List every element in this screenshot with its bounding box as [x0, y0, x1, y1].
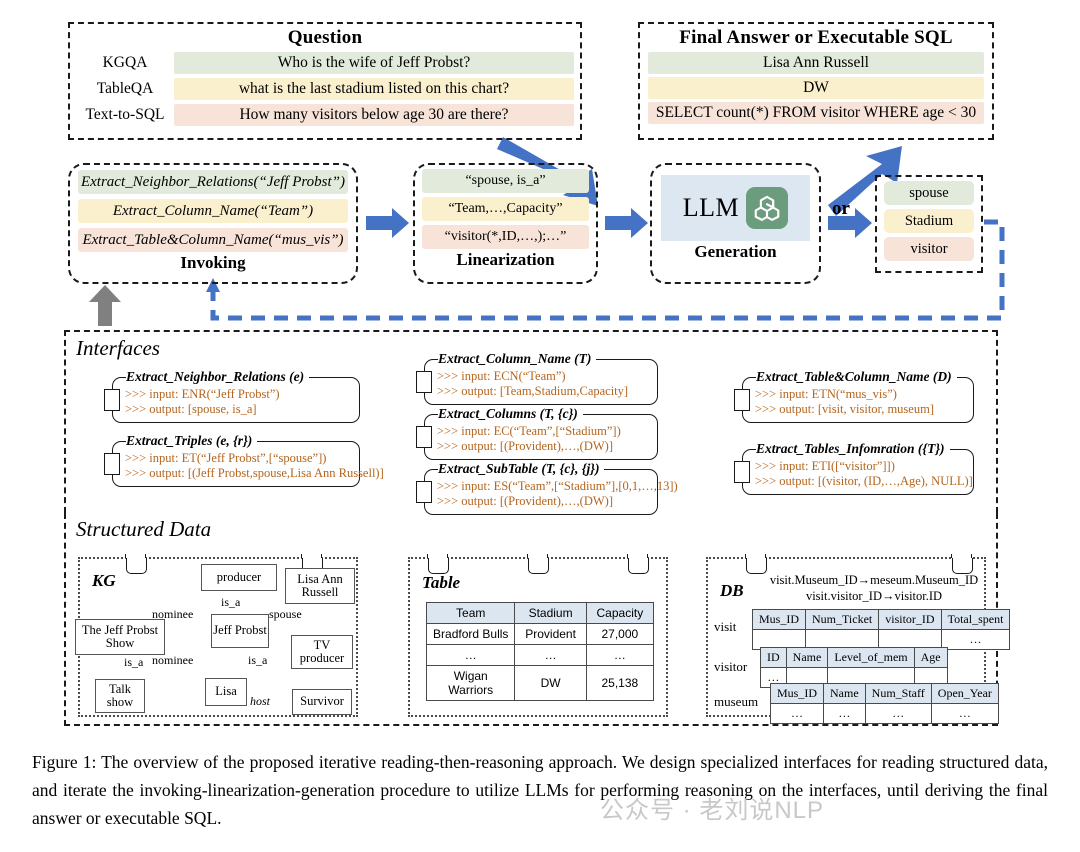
db-col: Mus_ID	[753, 610, 806, 630]
linearization-item-3: “visitor(*,ID,…,);…”	[422, 225, 589, 249]
db-table-museum: Mus_ID Name Num_Staff Open_Year … … … …	[770, 683, 999, 724]
table-cell: 25,138	[586, 666, 653, 701]
table-cell: …	[586, 645, 653, 666]
table-col-team: Team	[427, 603, 515, 624]
db-header-row: Mus_ID Name Num_Staff Open_Year	[771, 684, 999, 704]
generation-caption: Generation	[652, 242, 819, 262]
or-label: or	[832, 198, 850, 220]
answer-value-kgqa: Lisa Ann Russell	[648, 52, 984, 74]
table-cell: DW	[515, 666, 586, 701]
arrow-linearization-to-generation	[605, 208, 648, 238]
question-value-text-to-sql: How many visitors below age 30 are there…	[174, 104, 574, 126]
kg-edge-label-is-a-talkshow: is_a	[124, 655, 143, 670]
interface-name: Extract_Column_Name (T)	[438, 351, 596, 367]
table-row: … … …	[427, 645, 654, 666]
db-relation-2: visit.visitor_ID→visitor.ID	[764, 589, 984, 604]
db-col: Name	[824, 684, 866, 704]
db-col: ID	[761, 648, 787, 668]
interface-input: >>> input: ETN(“mus_vis”)	[755, 387, 964, 402]
interface-output: >>> output: [(Provident),…,(DW)]	[437, 494, 648, 509]
db-table-visitor: ID Name Level_of_mem Age …	[760, 647, 948, 688]
interface-output: >>> output: [(visitor, (ID,…,Age), NULL)…	[755, 474, 964, 489]
linearization-item-1: “spouse, is_a”	[422, 169, 589, 193]
question-row-text-to-sql: Text-to-SQL How many visitors below age …	[76, 103, 574, 127]
db-block: DB visit.Museum_ID→meseum.Museum_ID visi…	[706, 557, 986, 717]
linearization-box: “spouse, is_a” “Team,…,Capacity” “visito…	[413, 163, 598, 284]
component-plug-icon	[416, 481, 432, 503]
kg-node-survivor: Survivor	[292, 689, 352, 715]
kg-node-the-jeff-probst-show: The Jeff Probst Show	[75, 619, 165, 655]
db-table-label-visitor: visitor	[714, 659, 747, 675]
kg-node-producer: producer	[201, 564, 277, 591]
db-col: Num_Ticket	[806, 610, 879, 630]
table-cell: Wigan Warriors	[427, 666, 515, 701]
db-table-visit: Mus_ID Num_Ticket visitor_ID Total_spent…	[752, 609, 1010, 650]
invoking-caption: Invoking	[70, 253, 356, 273]
interface-name: Extract_Columns (T, {c})	[438, 406, 583, 422]
arrow-interfaces-to-invoking	[89, 285, 121, 326]
db-table-label-visit: visit	[714, 619, 736, 635]
db-header-row: Mus_ID Num_Ticket visitor_ID Total_spent	[753, 610, 1010, 630]
table-col-capacity: Capacity	[586, 603, 653, 624]
interface-input: >>> input: ET(“Jeff Probst”,[“spouse”])	[125, 451, 350, 466]
component-plug-icon	[734, 461, 750, 483]
structured-data-title: Structured Data	[76, 517, 996, 542]
db-value: …	[824, 704, 866, 724]
component-plug-icon	[104, 453, 120, 475]
interface-card-extract-tables-information: Extract_Tables_Infomration ({T}) >>> inp…	[742, 440, 974, 495]
question-panel-title: Question	[70, 27, 580, 49]
block-tab-icon	[628, 558, 649, 574]
table-col-stadium: Stadium	[515, 603, 586, 624]
question-row-tableqa: TableQA what is the last stadium listed …	[76, 77, 574, 101]
kg-edge-label-nominee-2: nominee	[152, 653, 193, 668]
block-tab-icon	[952, 558, 973, 574]
interface-output: >>> output: [(Jeff Probst,spouse,Lisa An…	[125, 466, 350, 481]
component-plug-icon	[734, 389, 750, 411]
table-block: Table Team Stadium Capacity Bradford Bul…	[408, 557, 668, 717]
interface-input: >>> input: ETI([“visitor”]])	[755, 459, 964, 474]
table-title: Table	[422, 573, 460, 593]
db-relation-1: visit.Museum_ID→meseum.Museum_ID	[764, 573, 984, 588]
kg-node-talk-show: Talk show	[95, 679, 145, 713]
answer-panel-title: Final Answer or Executable SQL	[640, 27, 992, 49]
component-plug-icon	[416, 426, 432, 448]
answer-value-tableqa: DW	[648, 77, 984, 99]
interface-input: >>> input: EC(“Team”,[“Stadium”])	[437, 424, 648, 439]
db-title: DB	[720, 581, 744, 601]
question-label-text-to-sql: Text-to-SQL	[76, 106, 174, 124]
output-box: spouse Stadium visitor	[875, 175, 983, 273]
openai-logo-icon	[746, 187, 788, 229]
db-header-row: ID Name Level_of_mem Age	[761, 648, 948, 668]
question-label-tableqa: TableQA	[76, 80, 174, 98]
interface-card-extract-subtable: Extract_SubTable (T, {c}, {j}) >>> input…	[424, 460, 658, 515]
output-item-3: visitor	[884, 237, 974, 261]
db-value: …	[931, 704, 998, 724]
kg-edge-label-is-a-tvproducer: is_a	[248, 653, 267, 668]
db-value: …	[771, 704, 824, 724]
linearization-caption: Linearization	[415, 250, 596, 270]
block-tab-icon	[746, 558, 767, 574]
db-col: visitor_ID	[879, 610, 941, 630]
answer-panel: Final Answer or Executable SQL Lisa Ann …	[638, 22, 994, 140]
db-table-label-museum: museum	[714, 694, 758, 710]
interface-input: >>> input: ENR(“Jeff Probst”)	[125, 387, 350, 402]
interface-name: Extract_Tables_Infomration ({T})	[756, 441, 950, 457]
interface-card-extract-neighbor-relations: Extract_Neighbor_Relations (e) >>> input…	[112, 368, 360, 423]
block-tab-icon	[126, 558, 147, 574]
kg-edge-label-nominee-1: nominee	[152, 607, 193, 622]
question-value-tableqa: what is the last stadium listed on this …	[174, 78, 574, 100]
question-panel: Question KGQA Who is the wife of Jeff Pr…	[68, 22, 582, 140]
question-label-kgqa: KGQA	[76, 54, 174, 72]
table-cell: …	[515, 645, 586, 666]
db-col: Age	[914, 648, 947, 668]
table-row: Wigan Warriors DW 25,138	[427, 666, 654, 701]
kg-node-lisa: Lisa	[205, 678, 247, 706]
invoking-item-1: Extract_Neighbor_Relations(“Jeff Probst”…	[78, 170, 348, 194]
db-value: …	[865, 704, 931, 724]
invoking-item-2: Extract_Column_Name(“Team”)	[78, 199, 348, 223]
interface-card-extract-triples: Extract_Triples (e, {r}) >>> input: ET(“…	[112, 432, 360, 487]
kg-title: KG	[92, 571, 116, 591]
interface-name: Extract_Table&Column_Name (D)	[756, 369, 957, 385]
db-col: Num_Staff	[865, 684, 931, 704]
interface-output: >>> output: [Team,Stadium,Capacity]	[437, 384, 648, 399]
kg-edge-label-is-a-producer: is_a	[221, 595, 240, 610]
llm-panel: LLM	[661, 175, 810, 241]
llm-label: LLM	[683, 193, 739, 223]
interface-name: Extract_Neighbor_Relations (e)	[126, 369, 309, 385]
table-row: Bradford Bulls Provident 27,000	[427, 624, 654, 645]
kg-node-jeff-probst: Jeff Probst	[211, 614, 269, 648]
db-value-row: … … … …	[771, 704, 999, 724]
figure-caption: Figure 1: The overview of the proposed i…	[32, 748, 1048, 832]
question-row-kgqa: KGQA Who is the wife of Jeff Probst?	[76, 51, 574, 75]
output-item-1: spouse	[884, 181, 974, 205]
db-col: Name	[786, 648, 828, 668]
db-col: Total_spent	[941, 610, 1010, 630]
interface-card-extract-table-column-name: Extract_Table&Column_Name (D) >>> input:…	[742, 368, 974, 423]
interface-output: >>> output: [visit, visitor, museum]	[755, 402, 964, 417]
answer-value-text-to-sql: SELECT count(*) FROM visitor WHERE age <…	[648, 102, 984, 124]
invoking-item-3: Extract_Table&Column_Name(“mus_vis”)	[78, 228, 348, 252]
db-value: …	[941, 630, 1010, 650]
interface-output: >>> output: [(Provident),…,(DW)]	[437, 439, 648, 454]
table-cell: 27,000	[586, 624, 653, 645]
table-cell: Bradford Bulls	[427, 624, 515, 645]
component-plug-icon	[104, 389, 120, 411]
block-tab-icon	[528, 558, 549, 574]
db-col: Level_of_mem	[828, 648, 914, 668]
interface-input: >>> input: ES(“Team”,[“Stadium”],[0,1,…,…	[437, 479, 648, 494]
interface-card-extract-columns: Extract_Columns (T, {c}) >>> input: EC(“…	[424, 405, 658, 460]
table-cell: Provident	[515, 624, 586, 645]
arrow-invoking-to-linearization	[366, 208, 409, 238]
interface-card-extract-column-name: Extract_Column_Name (T) >>> input: ECN(“…	[424, 350, 658, 405]
interface-name: Extract_Triples (e, {r})	[126, 433, 257, 449]
sample-table: Team Stadium Capacity Bradford Bulls Pro…	[426, 602, 654, 701]
question-value-kgqa: Who is the wife of Jeff Probst?	[174, 52, 574, 74]
table-cell: …	[427, 645, 515, 666]
kg-node-lisa-ann-russell: Lisa Ann Russell	[285, 568, 355, 604]
output-item-2: Stadium	[884, 209, 974, 233]
db-col: Mus_ID	[771, 684, 824, 704]
table-header-row: Team Stadium Capacity	[427, 603, 654, 624]
interface-name: Extract_SubTable (T, {c}, {j})	[438, 461, 604, 477]
invoking-box: Extract_Neighbor_Relations(“Jeff Probst”…	[68, 163, 358, 284]
block-tab-icon	[428, 558, 449, 574]
kg-node-tv-producer: TV producer	[291, 635, 353, 669]
linearization-item-2: “Team,…,Capacity”	[422, 197, 589, 221]
kg-edge-label-spouse: spouse	[269, 607, 302, 622]
kg-edge-label-host: host	[250, 694, 270, 709]
generation-box: LLM Generation	[650, 163, 821, 284]
component-plug-icon	[416, 371, 432, 393]
interface-output: >>> output: [spouse, is_a]	[125, 402, 350, 417]
interface-input: >>> input: ECN(“Team”)	[437, 369, 648, 384]
db-col: Open_Year	[931, 684, 998, 704]
